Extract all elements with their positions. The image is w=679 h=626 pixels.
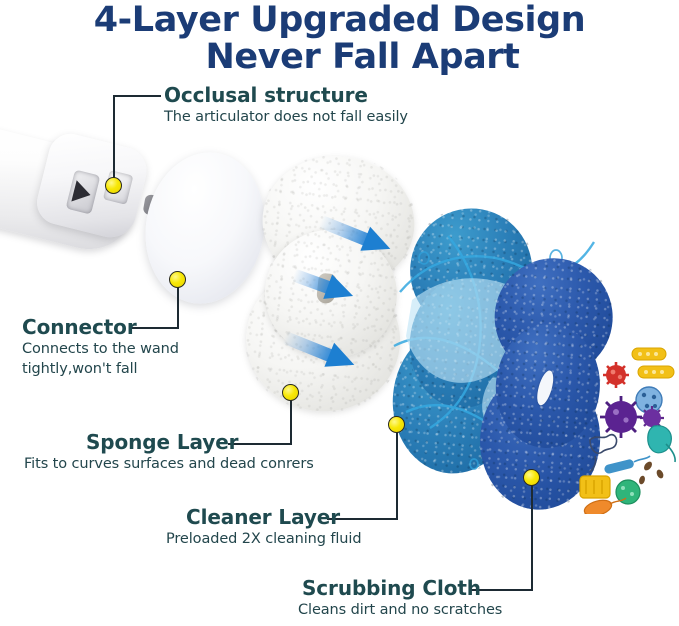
leader-occlusal-vertical [113, 95, 115, 181]
callout-subtitle: The articulator does not fall easily [164, 108, 408, 128]
callout-connector: Connector Connects to the wand tightly,w… [22, 315, 179, 379]
page-title: 4-Layer Upgraded Design Never Fall Apart [0, 2, 679, 76]
amoeba-teal-icon [648, 426, 675, 462]
leader-occlusal-horizontal [113, 95, 161, 97]
marker-dot-cloth [523, 469, 540, 486]
virus-purple-large-icon [600, 396, 642, 438]
callout-subtitle: Fits to curves surfaces and dead conrers [24, 455, 314, 475]
title-line-2: Never Fall Apart [0, 39, 679, 76]
germ-illustrations [576, 344, 679, 514]
callout-subtitle-line-2: tightly,won't fall [22, 360, 179, 380]
callout-heading: Occlusal structure [164, 83, 408, 107]
callout-heading: Cleaner Layer [186, 505, 361, 529]
callout-heading: Sponge Layer [86, 430, 314, 454]
leader-cleaner-vertical [396, 424, 398, 520]
microbe-speck-icon [638, 460, 665, 485]
virus-blue-icon [636, 387, 662, 413]
leader-connector-horizontal [130, 327, 179, 329]
leader-cloth-vertical [531, 477, 533, 591]
bacteria-blue-rod-icon [603, 456, 650, 474]
bacteria-rod-icon [632, 348, 674, 378]
bacteria-yellow-block-icon [580, 476, 610, 498]
callout-subtitle: Preloaded 2X cleaning fluid [166, 530, 361, 550]
virus-red-icon [603, 362, 629, 388]
callout-scrubbing-cloth: Scrubbing Cloth Cleans dirt and no scrat… [302, 576, 502, 621]
leader-cleaner-horizontal [327, 518, 398, 520]
marker-dot-occlusal [105, 177, 122, 194]
callout-subtitle: Cleans dirt and no scratches [298, 601, 502, 621]
leader-cloth-horizontal [470, 589, 533, 591]
marker-dot-connector [169, 271, 186, 288]
callout-cleaner-layer: Cleaner Layer Preloaded 2X cleaning flui… [186, 505, 361, 550]
callout-heading: Scrubbing Cloth [302, 576, 502, 600]
infographic-canvas: 4-Layer Upgraded Design Never Fall Apart [0, 0, 679, 626]
marker-dot-sponge [282, 384, 299, 401]
callout-occlusal-structure: Occlusal structure The articulator does … [164, 83, 408, 128]
callout-sponge-layer: Sponge Layer Fits to curves surfaces and… [86, 430, 314, 475]
leader-sponge-horizontal [228, 443, 292, 445]
title-line-1: 4-Layer Upgraded Design [0, 2, 679, 39]
marker-dot-cleaner [388, 416, 405, 433]
callout-subtitle-line-1: Connects to the wand [22, 340, 179, 360]
